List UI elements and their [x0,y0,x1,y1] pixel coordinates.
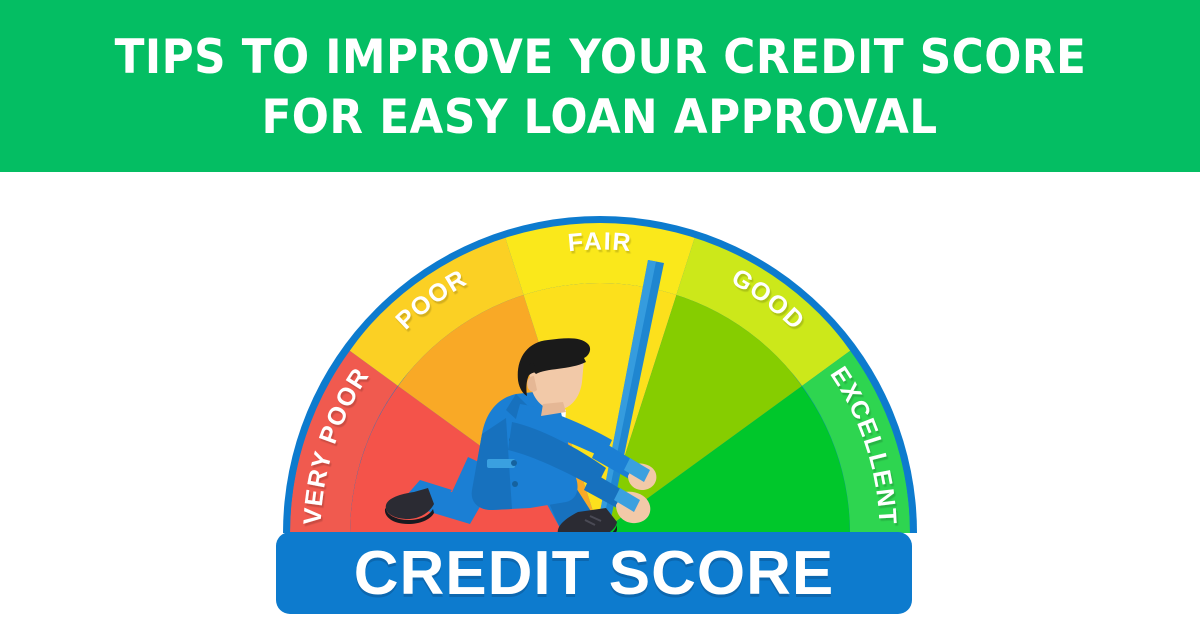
credit-score-illustration: VERY POOR POOR FAIR GOOD EXCELLENT [0,172,1200,630]
credit-score-label: CREDIT SCORE [354,538,834,609]
header-banner: TIPS TO IMPROVE YOUR CREDIT SCORE FOR EA… [0,0,1200,172]
figure-pocket [487,459,515,468]
credit-score-plate: CREDIT SCORE [276,532,912,614]
headline-line-1: TIPS TO IMPROVE YOUR CREDIT SCORE [114,32,1086,85]
segment-label-fair: FAIR [567,227,633,257]
headline-line-2: FOR EASY LOAN APPROVAL [262,92,938,145]
